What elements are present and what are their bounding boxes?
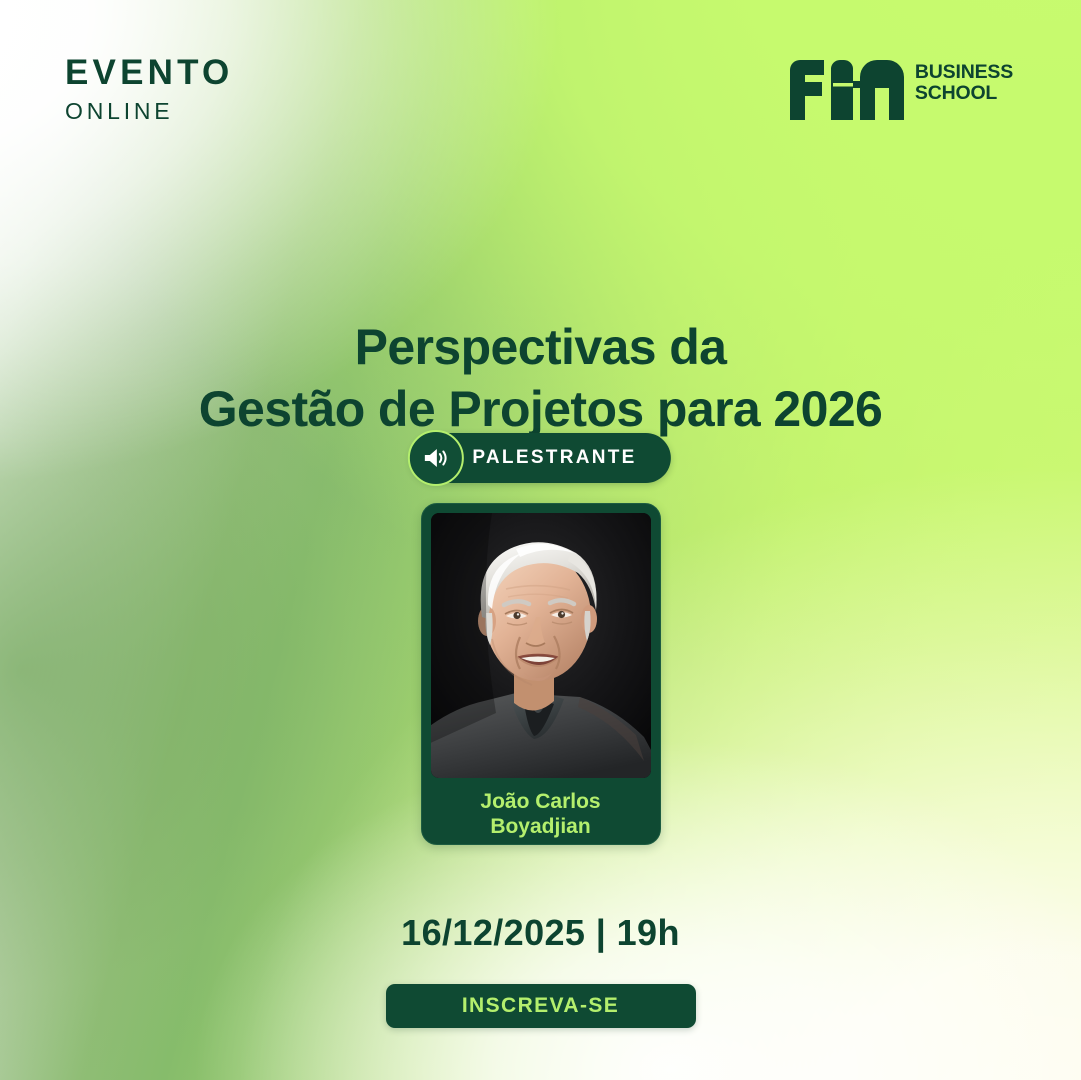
page-title-line-1: Perspectivas da (0, 316, 1081, 378)
event-poster: EVENTO ONLINE BUSINESS SCHOOL Perspectiv… (0, 0, 1081, 1080)
speaker-badge: PALESTRANTE (410, 433, 670, 483)
speaker-photo (431, 513, 651, 778)
register-button-label: INSCREVA-SE (462, 994, 619, 1018)
speaker-name: João Carlos Boyadjian (431, 789, 651, 839)
fia-logo-text: BUSINESS SCHOOL (915, 58, 1013, 104)
fia-wordmark-icon (788, 58, 906, 122)
speaker-name-line-2: Boyadjian (431, 814, 651, 839)
page-title-line-2: Gestão de Projetos para 2026 (0, 378, 1081, 440)
event-kicker-title: EVENTO (65, 55, 233, 90)
fia-logo-line-2: SCHOOL (915, 83, 1013, 104)
fia-logo-line-1: BUSINESS (915, 62, 1013, 83)
speaker-icon (422, 447, 449, 469)
speaker-badge-icon-circle (407, 430, 463, 486)
register-button[interactable]: INSCREVA-SE (386, 984, 696, 1028)
speaker-badge-label: PALESTRANTE (472, 447, 636, 469)
speaker-card: João Carlos Boyadjian (421, 503, 661, 845)
event-datetime: 16/12/2025 | 19h (0, 912, 1081, 954)
speaker-name-line-1: João Carlos (431, 789, 651, 814)
event-kicker: EVENTO ONLINE (65, 55, 233, 123)
page-title: Perspectivas da Gestão de Projetos para … (0, 316, 1081, 440)
event-kicker-subtitle: ONLINE (65, 100, 233, 123)
fia-logo: BUSINESS SCHOOL (788, 58, 1013, 122)
